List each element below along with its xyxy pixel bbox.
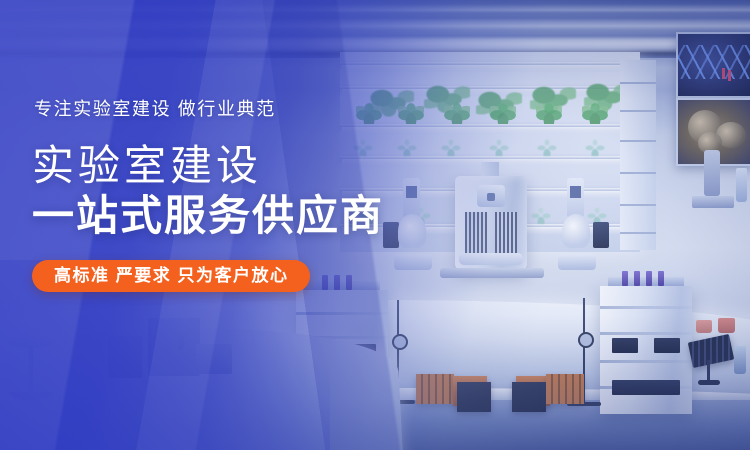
- bioreactor-base: [692, 196, 734, 208]
- shelf-plant: [490, 102, 516, 124]
- ceiling-light-bands: [0, 0, 750, 58]
- lab-stool-legs: [5, 392, 57, 402]
- banner-text-block: 专注实验室建设 做行业典范 实验室建设 一站式服务供应商 高标准 严要求 只为客…: [32, 100, 452, 292]
- shelf-sprout: [536, 138, 558, 156]
- pink-reagent-jar-b: [718, 318, 735, 333]
- wash-bottle: [734, 346, 746, 374]
- bench-instrument-b: [148, 318, 200, 376]
- reagent-bottle: [736, 168, 747, 202]
- clamp-left: [392, 334, 408, 350]
- banner-headline-secondary: 一站式服务供应商: [32, 194, 452, 238]
- instrument-tower-right: [600, 286, 692, 414]
- sample-rack-right: [546, 374, 584, 404]
- banner-headline-primary: 实验室建设: [32, 144, 452, 188]
- bench-instrument-a: [108, 336, 142, 378]
- microscope-right: [556, 178, 600, 270]
- tablet-stand: [707, 360, 710, 382]
- lab-stool-pole: [28, 346, 33, 396]
- analyzer-head: [477, 185, 505, 207]
- central-analyzer: [455, 176, 527, 272]
- dna-helix-graphic: [676, 45, 750, 79]
- sample-rack: [465, 212, 487, 254]
- clamp-right: [578, 332, 594, 348]
- sample-rack: [495, 212, 517, 254]
- shelf-sprout: [584, 138, 606, 156]
- pink-reagent-jar-a: [696, 320, 712, 333]
- sample-rack-left: [416, 374, 454, 404]
- shelf-plant: [536, 102, 562, 124]
- shelf-plant: [582, 102, 608, 124]
- sample-box-dark-right: [512, 382, 546, 412]
- side-storage-rack: [620, 60, 656, 250]
- bench-instrument-c: [196, 344, 232, 374]
- sample-box-dark-left: [457, 382, 491, 412]
- bioreactor-vessel: [704, 150, 720, 196]
- dna-monitor: [676, 32, 750, 98]
- lab-construction-banner: 专注实验室建设 做行业典范 实验室建设 一站式服务供应商 高标准 严要求 只为客…: [0, 0, 750, 450]
- banner-promise-badge: 高标准 严要求 只为客户放心: [32, 260, 310, 292]
- analyzer-platform: [440, 268, 544, 278]
- tablet-stand-base: [698, 380, 720, 385]
- banner-tagline: 专注实验室建设 做行业典范: [34, 100, 452, 118]
- shelf-sprout: [488, 138, 510, 156]
- bench-probe: [178, 328, 184, 350]
- shelf-sprout: [530, 206, 552, 224]
- analyzer-base: [459, 253, 523, 265]
